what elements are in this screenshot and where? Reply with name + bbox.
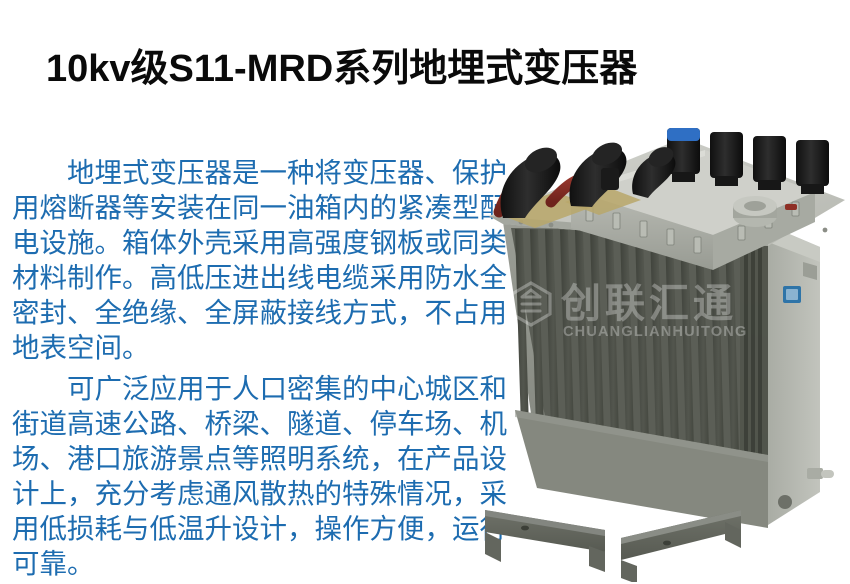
page-root: 10kv级S11-MRD系列地埋式变压器 地埋式变压器是一种将变压器、保护用熔断… bbox=[0, 0, 850, 582]
drain-valve bbox=[807, 468, 834, 479]
roller-wheel bbox=[778, 495, 792, 509]
description-text-block: 地埋式变压器是一种将变压器、保护用熔断器等安装在同一油箱内的紧凑型配电设施。箱体… bbox=[12, 156, 512, 584]
lv-bushing-2 bbox=[710, 132, 743, 186]
relief-indicator bbox=[785, 204, 797, 210]
description-paragraph-1: 地埋式变压器是一种将变压器、保护用熔断器等安装在同一油箱内的紧凑型配电设施。箱体… bbox=[12, 156, 512, 366]
skid-bolt-hole bbox=[663, 541, 671, 546]
lv-bushing-3 bbox=[753, 136, 786, 190]
nameplate bbox=[783, 286, 801, 303]
blue-cap-icon bbox=[667, 128, 700, 141]
hv-spare-cap bbox=[601, 168, 619, 190]
description-paragraph-2: 可广泛应用于人口密集的中心城区和街道高速公路、桥梁、隧道、停车场、机场、港口旅游… bbox=[12, 372, 512, 582]
skid-bolt-hole bbox=[521, 526, 529, 531]
transformer-illustration bbox=[455, 110, 850, 582]
lv-bushing-4 bbox=[796, 140, 829, 194]
page-title: 10kv级S11-MRD系列地埋式变压器 bbox=[46, 50, 637, 88]
product-photo bbox=[455, 110, 850, 582]
